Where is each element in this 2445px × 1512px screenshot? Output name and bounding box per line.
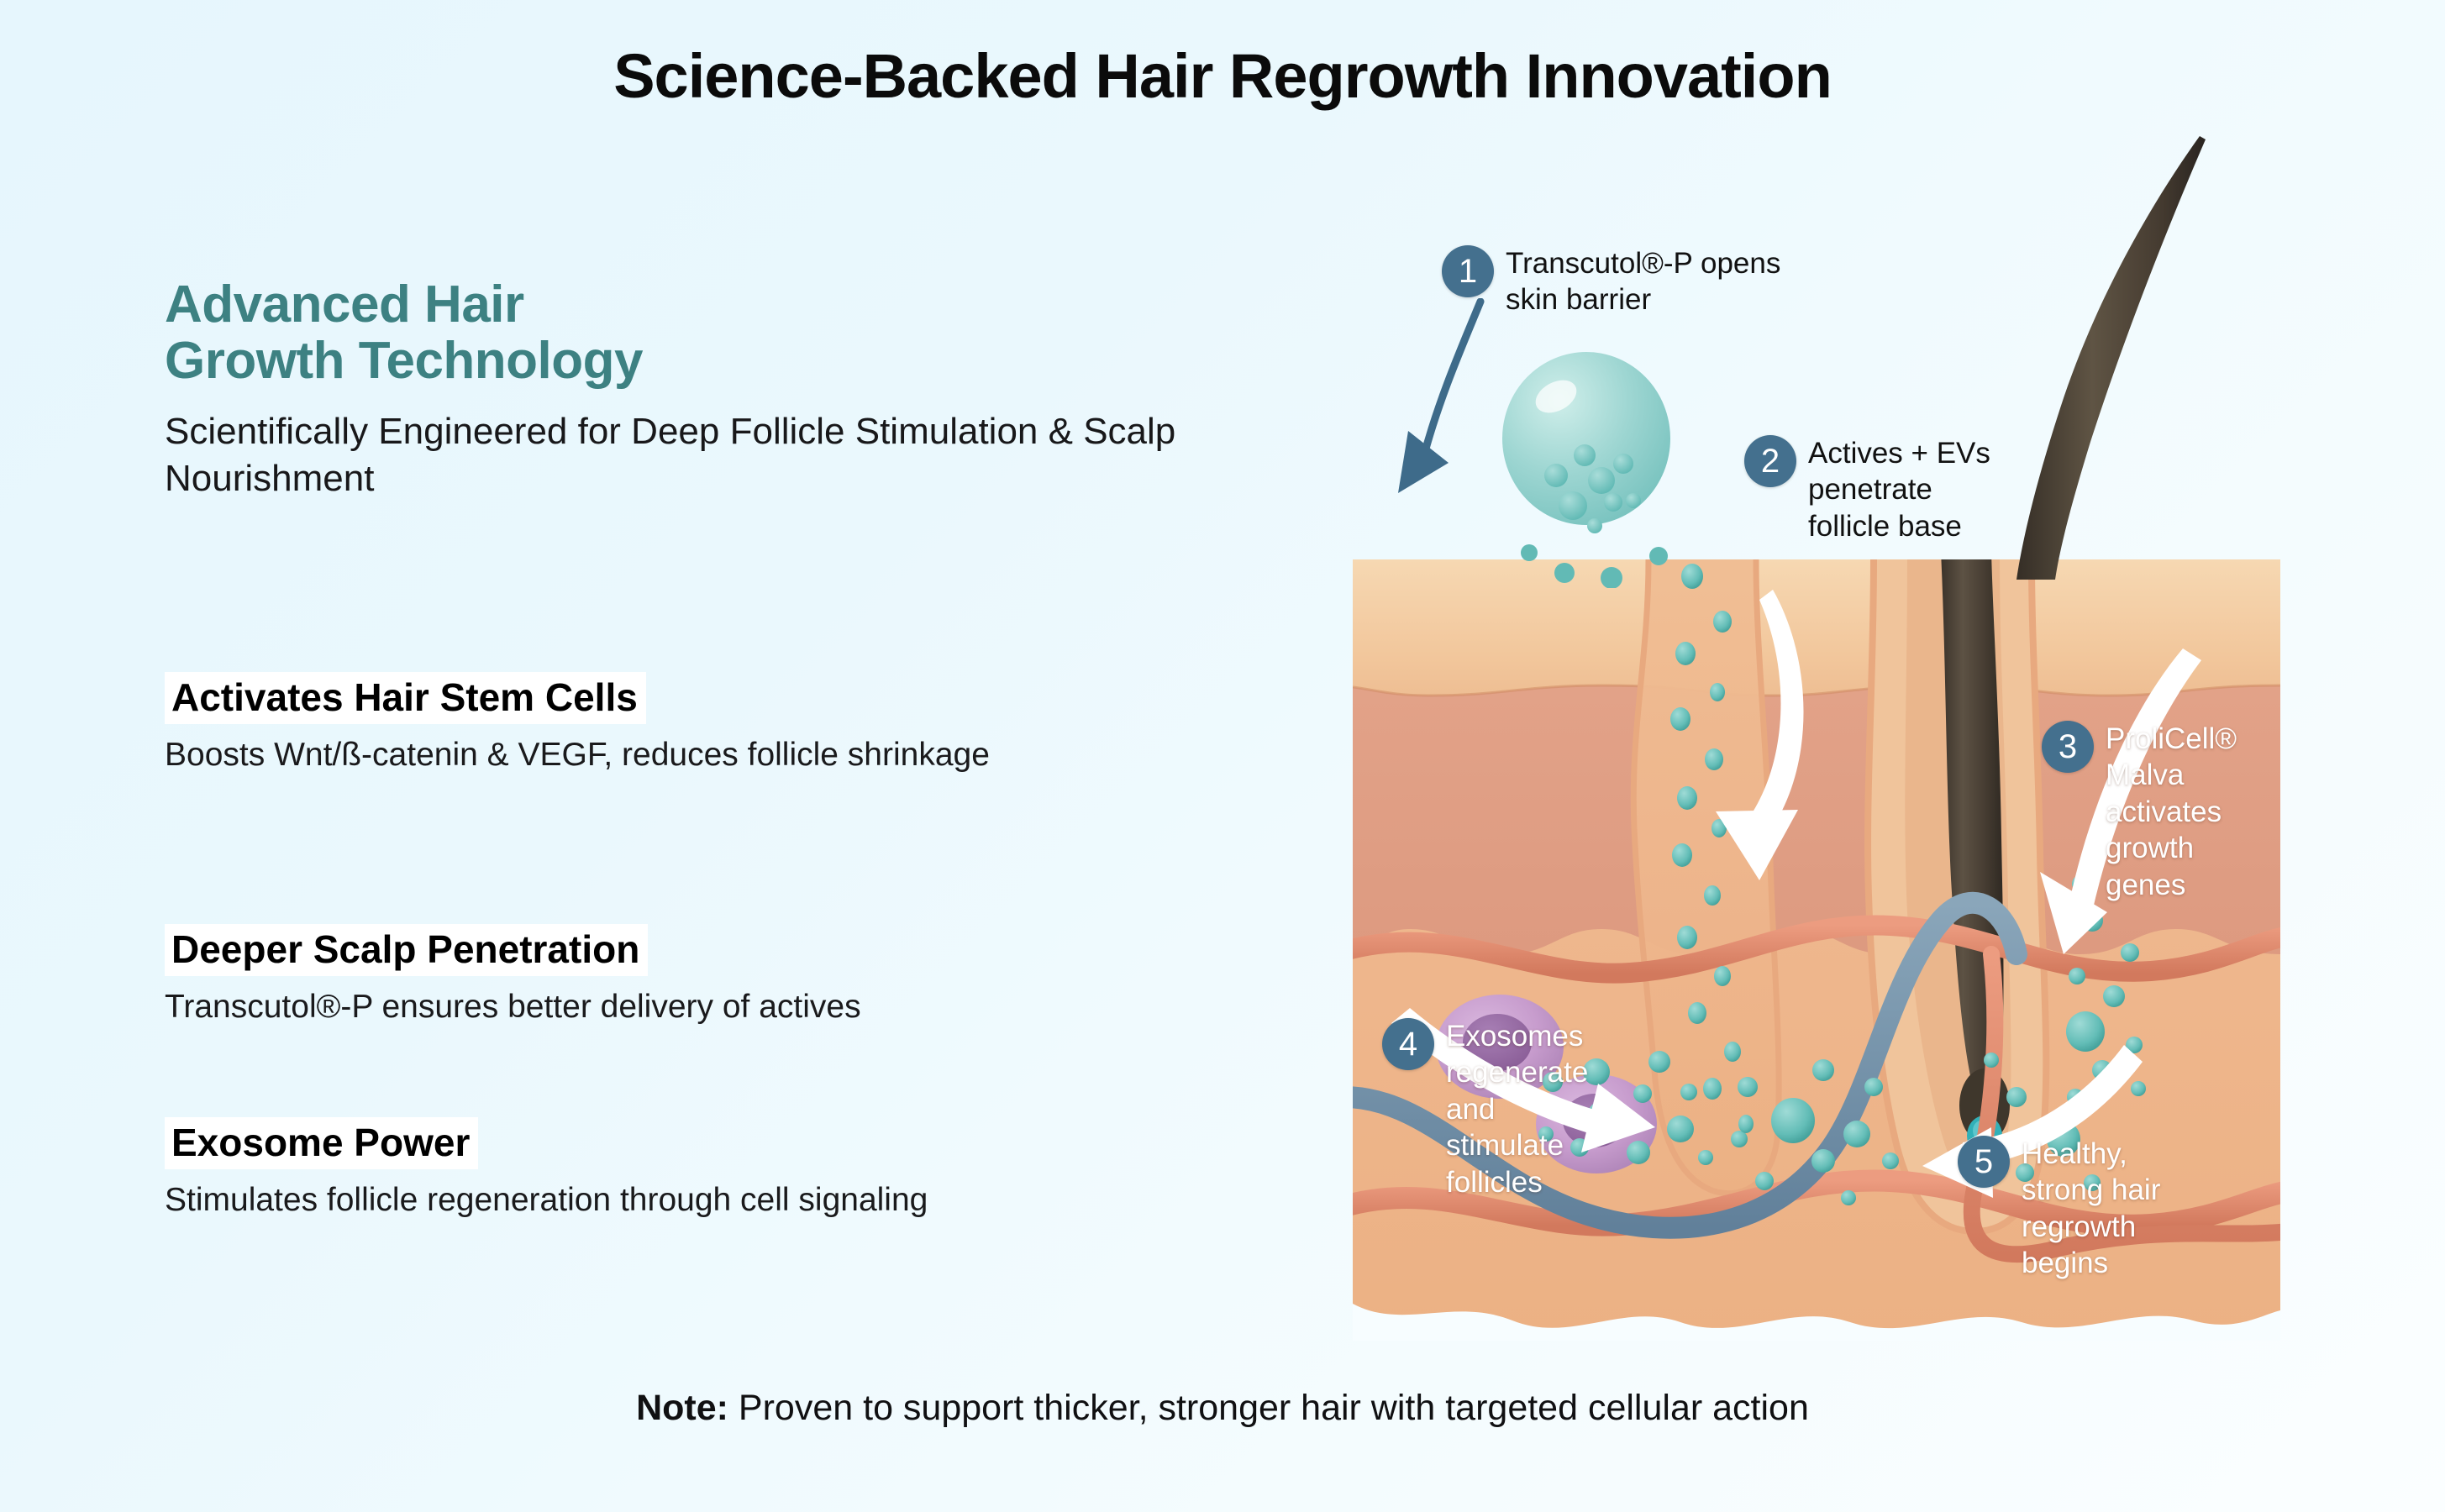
callout-5: 5 Healthy, strong hair regrowth begins bbox=[1958, 1136, 2168, 1282]
callout-text-3: ProliCell® Malva activates growth genes bbox=[2106, 721, 2252, 903]
headline-line-1: Advanced Hair bbox=[165, 277, 1282, 333]
feature-block-deeper-scalp-penetration: Deeper Scalp Penetration Transcutol®-P e… bbox=[165, 924, 1291, 1029]
feature-description: Stimulates follicle regeneration through… bbox=[165, 1179, 1198, 1222]
feature-block-activates-hair-stem-cells: Activates Hair Stem Cells Boosts Wnt/ß-c… bbox=[165, 672, 1291, 777]
callout-text-2: Actives + EVs penetrate follicle base bbox=[1808, 435, 1996, 544]
callout-badge-1: 1 bbox=[1442, 245, 1494, 297]
feature-block-exosome-power: Exosome Power Stimulates follicle regene… bbox=[165, 1117, 1291, 1222]
headline-line-2: Growth Technology bbox=[165, 333, 1282, 390]
callout-badge-5: 5 bbox=[1958, 1136, 2010, 1188]
callout-4: 4 Exosomes regenerate and stimulate foll… bbox=[1382, 1018, 1609, 1200]
feature-title: Exosome Power bbox=[165, 1117, 478, 1169]
callout-text-5: Healthy, strong hair regrowth begins bbox=[2022, 1136, 2168, 1282]
subheadline: Scientifically Engineered for Deep Folli… bbox=[165, 408, 1198, 503]
pointer-line-1 bbox=[1386, 298, 1554, 500]
infographic-canvas: Science-Backed Hair Regrowth Innovation … bbox=[0, 0, 2445, 1512]
page-title: Science-Backed Hair Regrowth Innovation bbox=[0, 40, 2445, 112]
feature-title: Deeper Scalp Penetration bbox=[165, 924, 648, 976]
callout-3: 3 ProliCell® Malva activates growth gene… bbox=[2042, 721, 2252, 903]
callout-badge-2: 2 bbox=[1744, 435, 1796, 487]
footer-note-text: Proven to support thicker, stronger hair… bbox=[728, 1388, 1809, 1428]
callout-2: 2 Actives + EVs penetrate follicle base bbox=[1744, 435, 1996, 544]
callout-badge-3: 3 bbox=[2042, 721, 2094, 773]
callout-text-1: Transcutol®-P opens skin barrier bbox=[1506, 245, 1803, 318]
footer-note-label: Note: bbox=[636, 1388, 728, 1428]
feature-description: Boosts Wnt/ß-catenin & VEGF, reduces fol… bbox=[165, 734, 1198, 777]
feature-description: Transcutol®-P ensures better delivery of… bbox=[165, 986, 1198, 1029]
feature-title: Activates Hair Stem Cells bbox=[165, 672, 646, 724]
callout-text-4: Exosomes regenerate and stimulate follic… bbox=[1446, 1018, 1609, 1200]
callout-1: 1 Transcutol®-P opens skin barrier bbox=[1442, 245, 1803, 318]
footer-note: Note: Proven to support thicker, stronge… bbox=[0, 1388, 2445, 1429]
left-content-column: Advanced Hair Growth Technology Scientif… bbox=[165, 277, 1282, 503]
callout-badge-4: 4 bbox=[1382, 1018, 1434, 1070]
